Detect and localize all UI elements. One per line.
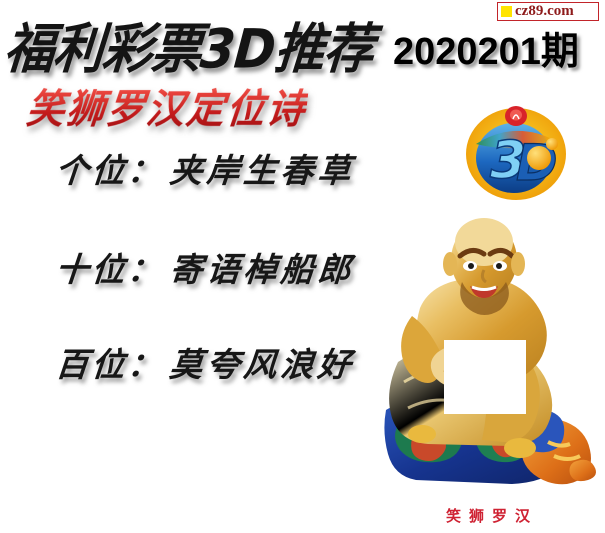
site-watermark: cz89.com — [497, 2, 599, 21]
welfare-lottery-emblem — [505, 106, 527, 126]
white-placeholder-box — [444, 340, 526, 414]
3d-lottery-logo: 3 D — [464, 104, 569, 202]
poem-line-position: 百位： — [54, 345, 165, 384]
issue-number: 2020201期 — [393, 20, 579, 75]
lottery-poster: cz89.com 福利彩票3D推荐 2020201期 笑狮罗汉定位诗 个位：夹岸… — [0, 0, 605, 533]
poem-line-position: 个位： — [54, 151, 165, 190]
statue-caption: 笑狮罗汉 — [408, 505, 568, 526]
logo-orange-ball — [527, 146, 551, 170]
poem-line-phrase: 莫夸风浪好 — [168, 345, 356, 384]
logo-small-ball — [546, 138, 558, 150]
poem-line-position: 十位： — [54, 250, 165, 289]
watermark-square-icon — [501, 6, 512, 17]
poem-line-phrase: 寄语棹船郎 — [168, 250, 356, 289]
poem-line: 个位：夹岸生春草 — [54, 144, 357, 192]
poem-line-phrase: 夹岸生春草 — [168, 151, 356, 190]
poem-line: 百位：莫夸风浪好 — [54, 338, 357, 386]
subtitle: 笑狮罗汉定位诗 — [24, 76, 310, 134]
watermark-label: cz89.com — [515, 4, 574, 19]
poem-line: 十位：寄语棹船郎 — [54, 243, 357, 291]
main-title: 福利彩票3D推荐 — [2, 6, 377, 84]
